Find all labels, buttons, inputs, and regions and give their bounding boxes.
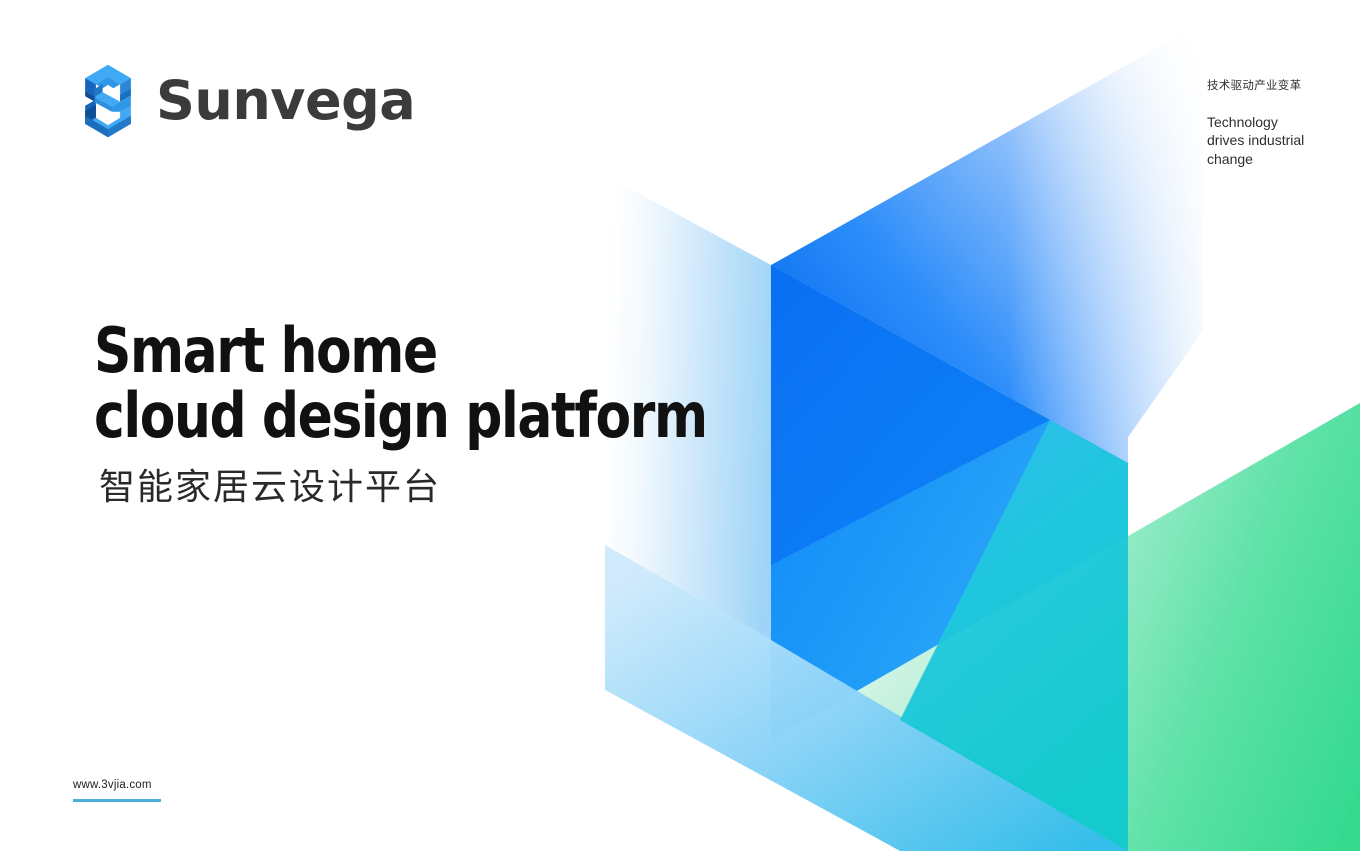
slide-canvas: Sunvega 技术驱动产业变革 Technology drives indus… [0, 0, 1360, 851]
artwork-white-fade-wedge [605, 690, 900, 851]
tagline-chinese: 技术驱动产业变革 [1207, 79, 1347, 94]
page-subtitle: 智能家居云设计平台 [99, 466, 441, 509]
website-url[interactable]: www.3vjia.com [73, 779, 161, 793]
artwork-top-white-wedge [605, 22, 1203, 265]
headline-line-2: cloud design platform [94, 383, 801, 448]
artwork-teal-face [900, 420, 1128, 851]
footer-block: www.3vjia.com [73, 779, 161, 802]
tagline-block: 技术驱动产业变革 Technology drives industrial ch… [1207, 79, 1347, 168]
footer-underline-rule [73, 799, 161, 802]
page-title: Smart home cloud design platform [94, 318, 854, 448]
tagline-english-line-2: drives industrial [1207, 131, 1347, 149]
brand-logo[interactable]: Sunvega [74, 62, 415, 140]
artwork-lower-left-face [605, 545, 1128, 851]
tagline-english-line-1: Technology [1207, 113, 1347, 131]
artwork-mint-wing [700, 536, 1128, 851]
headline-line-1: Smart home [94, 318, 801, 383]
artwork-green-panel [1128, 403, 1360, 851]
brand-wordmark: Sunvega [156, 74, 415, 128]
tagline-english: Technology drives industrial change [1207, 113, 1347, 168]
sunvega-isometric-hex-logo-icon [74, 62, 142, 140]
tagline-english-line-3: change [1207, 150, 1347, 168]
